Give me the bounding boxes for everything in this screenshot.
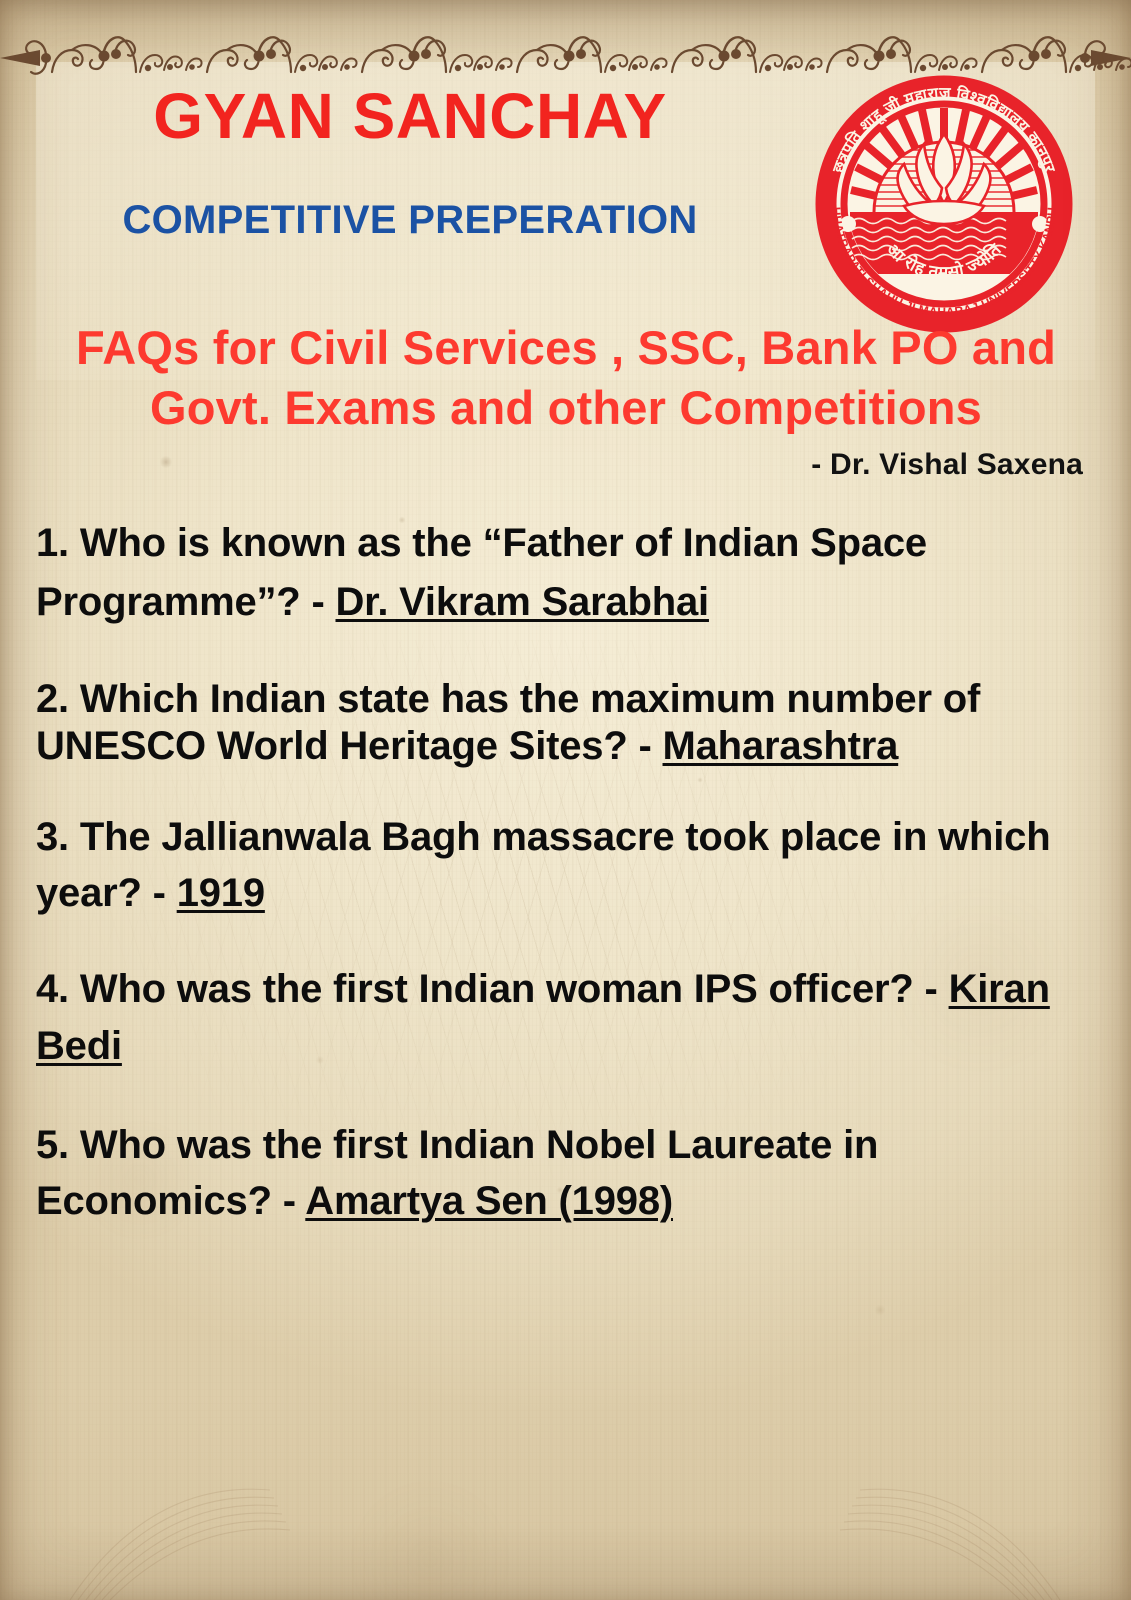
faq-number-2: 2. [36, 677, 69, 721]
faq-answer-3: 1919 [177, 871, 265, 915]
author-byline: - Dr. Vishal Saxena [811, 448, 1083, 482]
university-seal-logo: छत्रपति शाहू जी महाराज विश्वविद्यालय कान… [812, 72, 1076, 336]
faq-item-1: 1. Who is known as the “Father of Indian… [36, 514, 1106, 632]
faq-banner-line-1: FAQs for Civil Services , SSC, Bank PO a… [20, 318, 1112, 378]
bottom-engraved-arcs [0, 1370, 1131, 1600]
faq-item-2: 2. Which Indian state has the maximum nu… [36, 676, 1106, 769]
border-left-terminal [0, 41, 51, 73]
faq-answer-2: Maharashtra [663, 724, 899, 768]
faq-banner-heading: FAQs for Civil Services , SSC, Bank PO a… [20, 318, 1112, 438]
faq-item-3: 3. The Jallianwala Bagh massacre took pl… [36, 809, 1106, 921]
border-right-terminal [1080, 41, 1131, 66]
faq-number-1: 1. [36, 521, 69, 565]
faq-item-4: 4. Who was the first Indian woman IPS of… [36, 961, 1106, 1075]
faq-question-4: Who was the first Indian woman IPS offic… [80, 967, 938, 1011]
page-subtitle: COMPETITIVE PREPERATION [0, 200, 820, 240]
page-title: GYAN SANCHAY [0, 84, 820, 148]
faq-banner-line-2: Govt. Exams and other Competitions [20, 378, 1112, 438]
faq-number-4: 4. [36, 967, 69, 1011]
faq-list: 1. Who is known as the “Father of Indian… [36, 514, 1106, 1229]
faq-number-5: 5. [36, 1123, 69, 1167]
faq-number-3: 3. [36, 815, 69, 859]
faq-item-5: 5. Who was the first Indian Nobel Laurea… [36, 1117, 1106, 1229]
poster-canvas: GYAN SANCHAY COMPETITIVE PREPERATION [0, 0, 1131, 1600]
faq-answer-1: Dr. Vikram Sarabhai [336, 580, 709, 624]
faq-answer-5: Amartya Sen (1998) [305, 1179, 673, 1223]
